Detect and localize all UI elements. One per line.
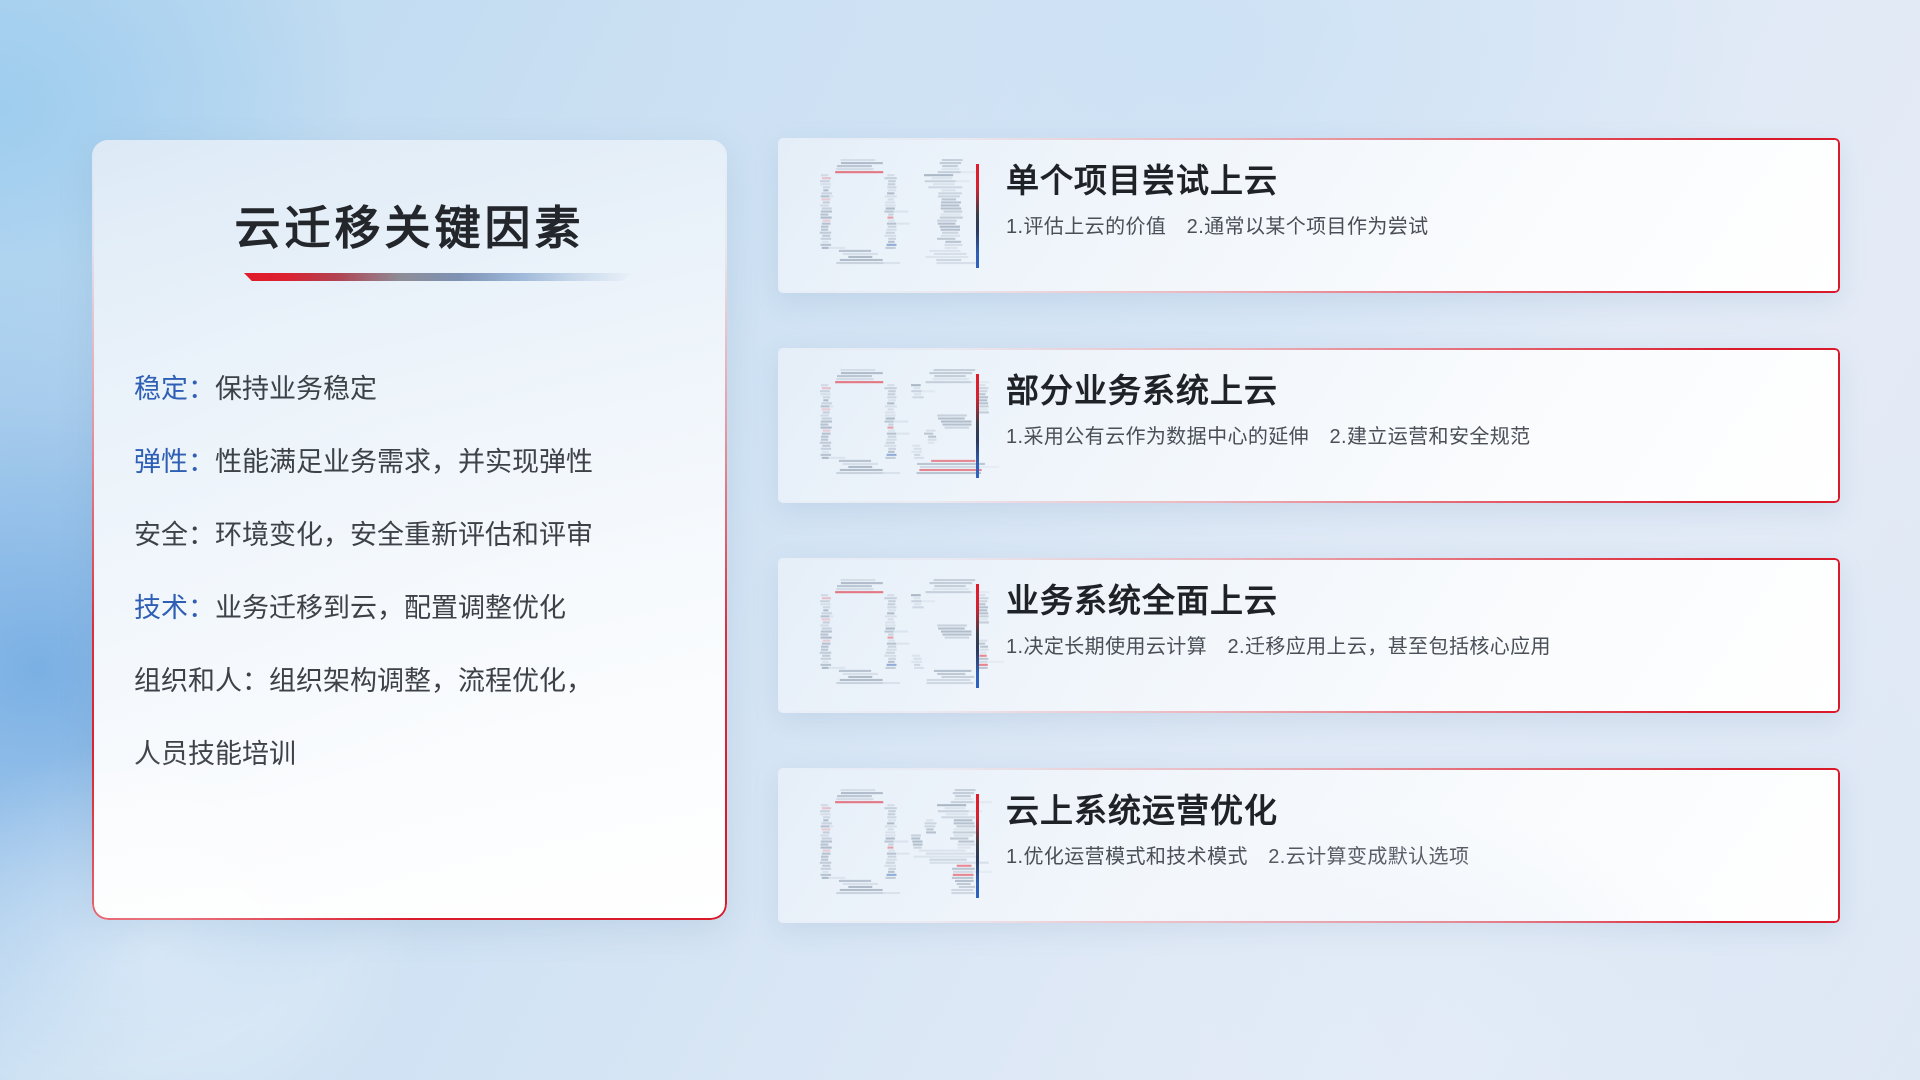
factor-row: 弹性：性能满足业务需求，并实现弹性 [134, 449, 697, 476]
stage-card[interactable]: 业务系统全面上云1.决定长期使用云计算 2.迁移应用上云，甚至包括核心应用 [778, 558, 1840, 713]
stage-card-body: 部分业务系统上云1.采用公有云作为数据中心的延伸 2.建立运营和安全规范 [1006, 370, 1816, 450]
stage-card[interactable]: 部分业务系统上云1.采用公有云作为数据中心的延伸 2.建立运营和安全规范 [778, 348, 1840, 503]
stage-card-title: 业务系统全面上云 [1006, 580, 1816, 621]
stage-card-subtitle: 1.评估上云的价值 2.通常以某个项目作为尝试 [1006, 214, 1816, 240]
cloud-migration-stage-list: 单个项目尝试上云1.评估上云的价值 2.通常以某个项目作为尝试部分业务系统上云1… [778, 138, 1840, 923]
title-underline-rule [244, 273, 634, 281]
stage-card[interactable]: 云上系统运营优化1.优化运营模式和技术模式 2.云计算变成默认选项 [778, 768, 1840, 923]
accent-bar [976, 794, 979, 898]
factor-row: 安全：环境变化，安全重新评估和评审 [134, 522, 697, 549]
stage-card-title: 云上系统运营优化 [1006, 790, 1816, 831]
stage-number-glyph [804, 573, 1004, 691]
factor-text: 性能满足业务需求，并实现弹性 [215, 447, 593, 477]
stage-card-title: 部分业务系统上云 [1006, 370, 1816, 411]
stage-number-glyph [804, 153, 1004, 271]
factor-text: 保持业务稳定 [215, 374, 377, 404]
stage-card-title: 单个项目尝试上云 [1006, 160, 1816, 201]
stage-card-body: 云上系统运营优化1.优化运营模式和技术模式 2.云计算变成默认选项 [1006, 790, 1816, 870]
page-title: 云迁移关键因素 [92, 192, 727, 258]
factor-label: 弹性： [134, 447, 215, 477]
stage-card[interactable]: 单个项目尝试上云1.评估上云的价值 2.通常以某个项目作为尝试 [778, 138, 1840, 293]
factor-row: 技术：业务迁移到云，配置调整优化 [134, 595, 697, 622]
stage-number-glyph [804, 783, 1004, 901]
accent-bar [976, 584, 979, 688]
stage-card-subtitle: 1.优化运营模式和技术模式 2.云计算变成默认选项 [1006, 844, 1816, 870]
stage-card-body: 业务系统全面上云1.决定长期使用云计算 2.迁移应用上云，甚至包括核心应用 [1006, 580, 1816, 660]
stage-card-subtitle: 1.决定长期使用云计算 2.迁移应用上云，甚至包括核心应用 [1006, 634, 1816, 660]
stage-number-glyph [804, 363, 1004, 481]
factor-row: 稳定：保持业务稳定 [134, 376, 697, 403]
factor-text: 人员技能培训 [134, 739, 296, 769]
factor-text: 组织架构调整，流程优化， [269, 666, 593, 696]
factor-label: 稳定： [134, 374, 215, 404]
factor-label: 技术： [134, 593, 215, 623]
factor-label: 安全： [134, 520, 215, 550]
factor-list: 稳定：保持业务稳定弹性：性能满足业务需求，并实现弹性安全：环境变化，安全重新评估… [134, 376, 697, 768]
factor-text: 环境变化，安全重新评估和评审 [215, 520, 593, 550]
accent-bar [976, 374, 979, 478]
factor-label: 组织和人： [134, 666, 269, 696]
factor-row: 组织和人：组织架构调整，流程优化， [134, 668, 697, 695]
stage-card-body: 单个项目尝试上云1.评估上云的价值 2.通常以某个项目作为尝试 [1006, 160, 1816, 240]
factor-text: 业务迁移到云，配置调整优化 [215, 593, 566, 623]
key-factors-panel: 云迁移关键因素 稳定：保持业务稳定弹性：性能满足业务需求，并实现弹性安全：环境变… [92, 140, 727, 920]
accent-bar [976, 164, 979, 268]
slide-canvas: 云迁移关键因素 稳定：保持业务稳定弹性：性能满足业务需求，并实现弹性安全：环境变… [0, 0, 1920, 1080]
factor-row: 人员技能培训 [134, 741, 697, 768]
stage-card-subtitle: 1.采用公有云作为数据中心的延伸 2.建立运营和安全规范 [1006, 424, 1816, 450]
